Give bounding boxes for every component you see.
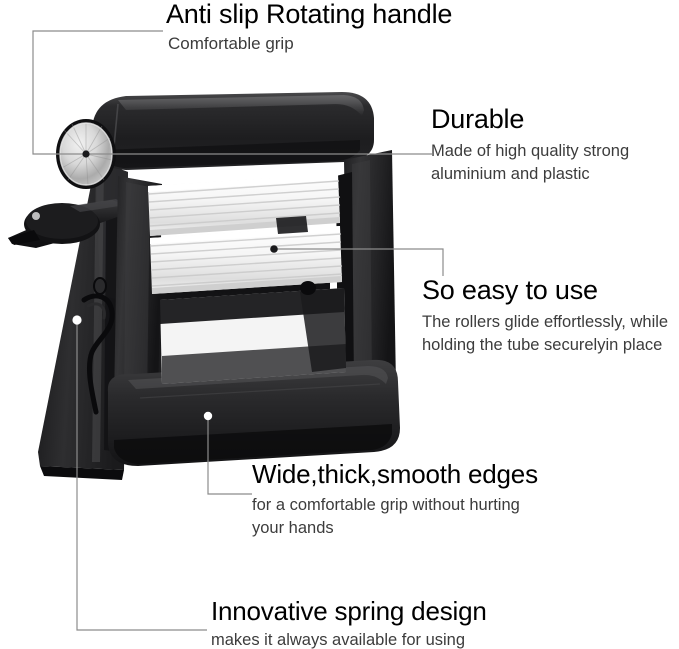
roller-gap	[276, 216, 308, 234]
roller-upper	[148, 174, 340, 236]
callout-durable: Durable Made of high quality strong alum…	[431, 103, 679, 186]
callout-title: Innovative spring design	[211, 595, 487, 627]
callout-anti-slip-handle: Anti slip Rotating handle Comfortable gr…	[166, 0, 452, 55]
callout-subtitle: for a comfortable grip without hurting y…	[252, 494, 532, 540]
callout-wide-thick-smooth-edges: Wide,thick,smooth edges for a comfortabl…	[252, 458, 538, 540]
callout-subtitle: The rollers glide effortlessly, while ho…	[422, 311, 672, 357]
callout-subtitle: Made of high quality strong aluminium an…	[431, 140, 679, 186]
callout-title: Durable	[431, 103, 679, 136]
window-shadow	[160, 288, 346, 384]
callout-subtitle: Comfortable grip	[168, 33, 452, 55]
callout-innovative-spring-design: Innovative spring design makes it always…	[211, 595, 487, 649]
callout-title: Anti slip Rotating handle	[166, 0, 452, 30]
callout-title: So easy to use	[422, 274, 672, 307]
callout-title: Wide,thick,smooth edges	[252, 458, 538, 490]
aluminium-knob	[56, 119, 116, 189]
callout-subtitle: makes it always available for using	[211, 629, 487, 649]
infographic-page: Anti slip Rotating handle Comfortable gr…	[0, 0, 679, 649]
callout-so-easy-to-use: So easy to use The rollers glide effortl…	[422, 274, 672, 357]
top-bar	[92, 92, 374, 170]
